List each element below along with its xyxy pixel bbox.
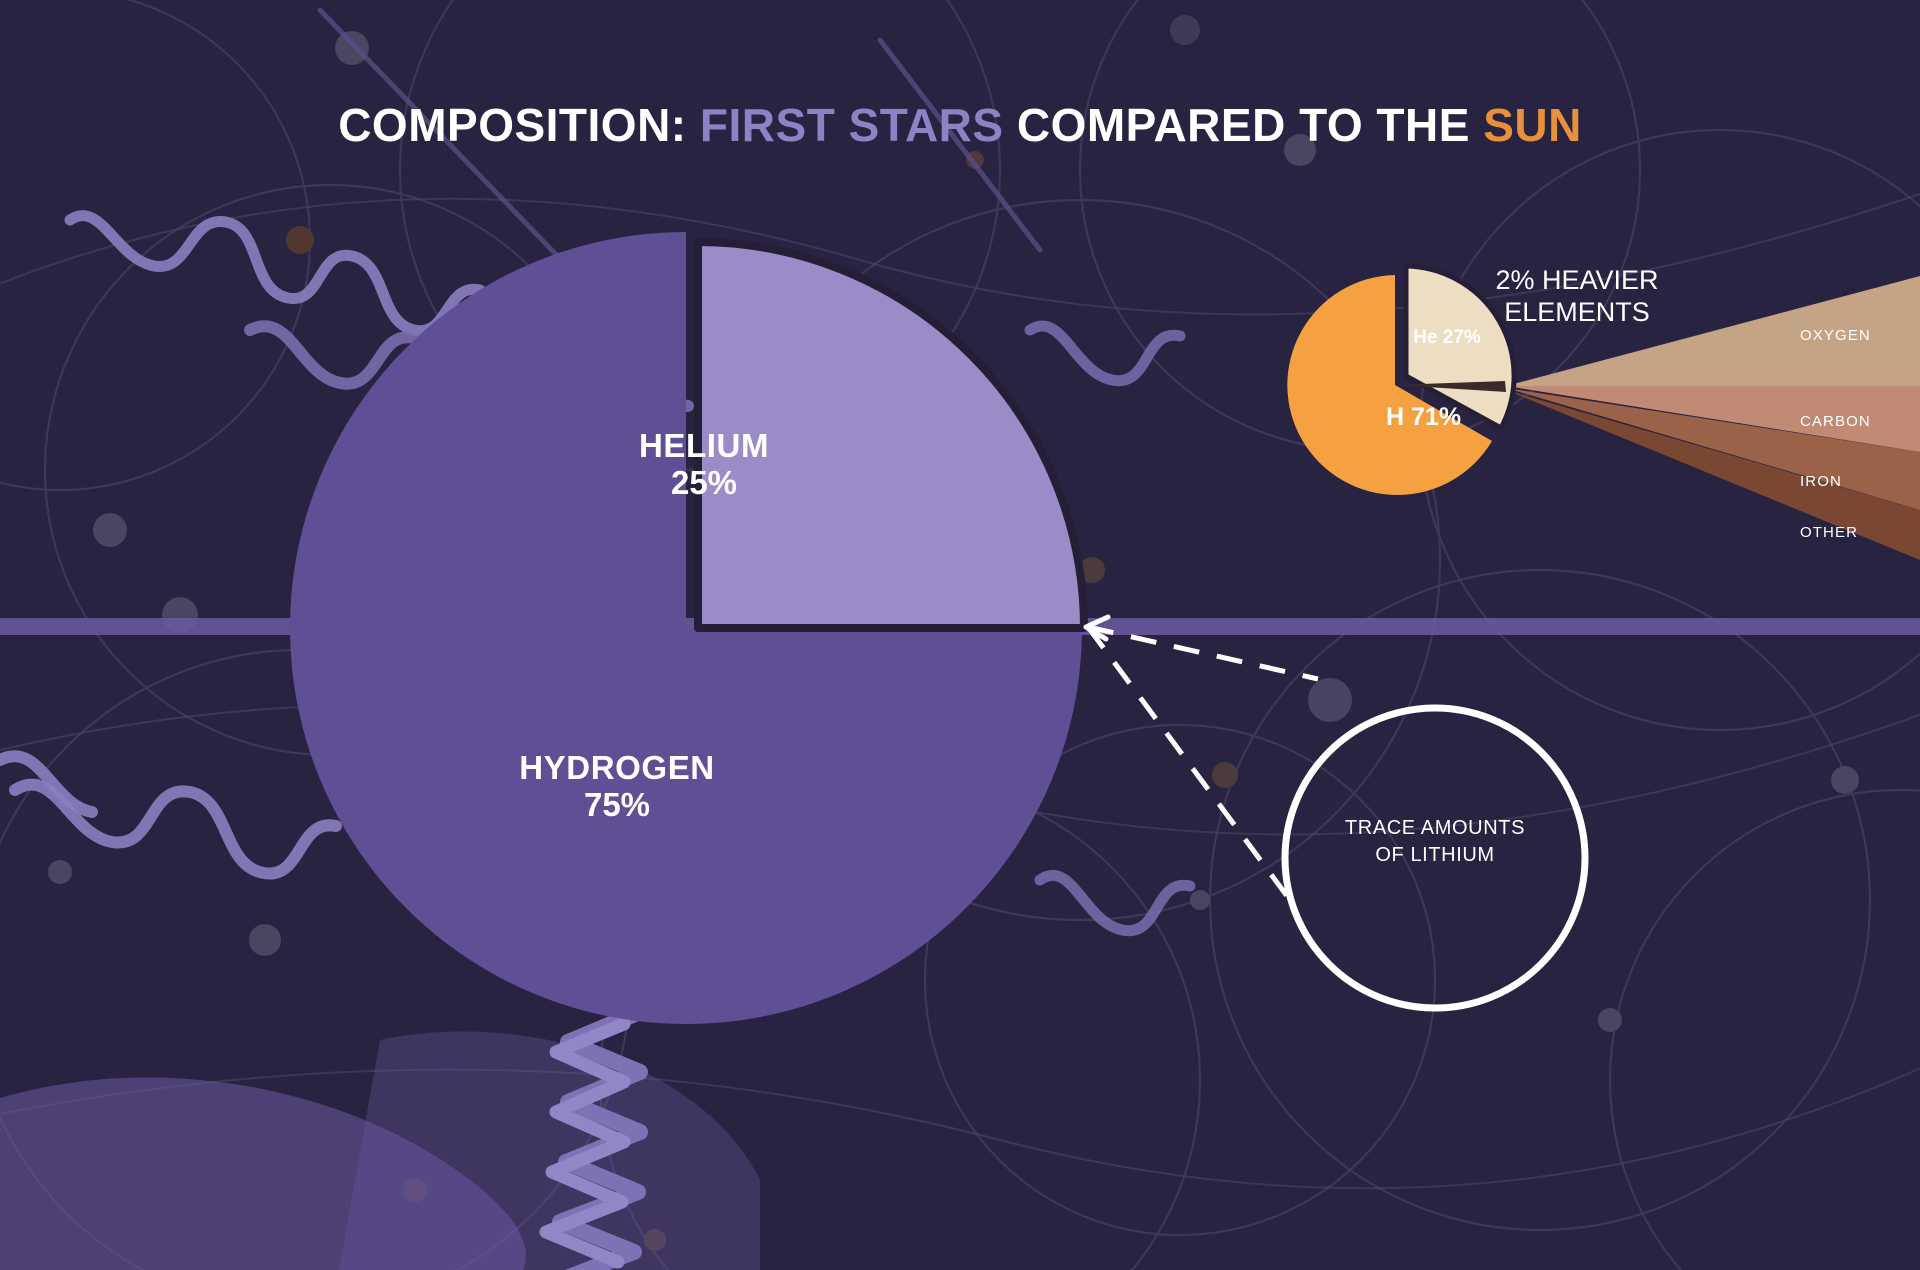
infographic-canvas: COMPOSITION: FIRST STARS COMPARED TO THE…: [0, 0, 1920, 1270]
lithium-line-1: TRACE AMOUNTS: [1320, 815, 1550, 842]
element-label-oxygen: OXYGEN: [1800, 327, 1871, 344]
element-label-iron: IRON: [1800, 473, 1842, 490]
heavier-caption-line-2: ELEMENTS: [1452, 297, 1702, 329]
title-part-sun: SUN: [1483, 99, 1582, 151]
sun-pie-and-element-cone: [0, 0, 1920, 1270]
title-part-first-stars: FIRST STARS: [700, 99, 1004, 151]
element-label-carbon: CARBON: [1800, 413, 1871, 430]
title-part-1: COMPOSITION:: [338, 99, 700, 151]
lithium-line-2: OF LITHIUM: [1320, 842, 1550, 869]
element-label-other: OTHER: [1800, 524, 1858, 541]
heavier-elements-caption: 2% HEAVIER ELEMENTS: [1452, 265, 1702, 329]
page-title: COMPOSITION: FIRST STARS COMPARED TO THE…: [0, 98, 1920, 152]
lithium-callout-text: TRACE AMOUNTS OF LITHIUM: [1320, 815, 1550, 869]
title-part-3: COMPARED TO THE: [1004, 99, 1484, 151]
heavier-caption-line-1: 2% HEAVIER: [1452, 265, 1702, 297]
